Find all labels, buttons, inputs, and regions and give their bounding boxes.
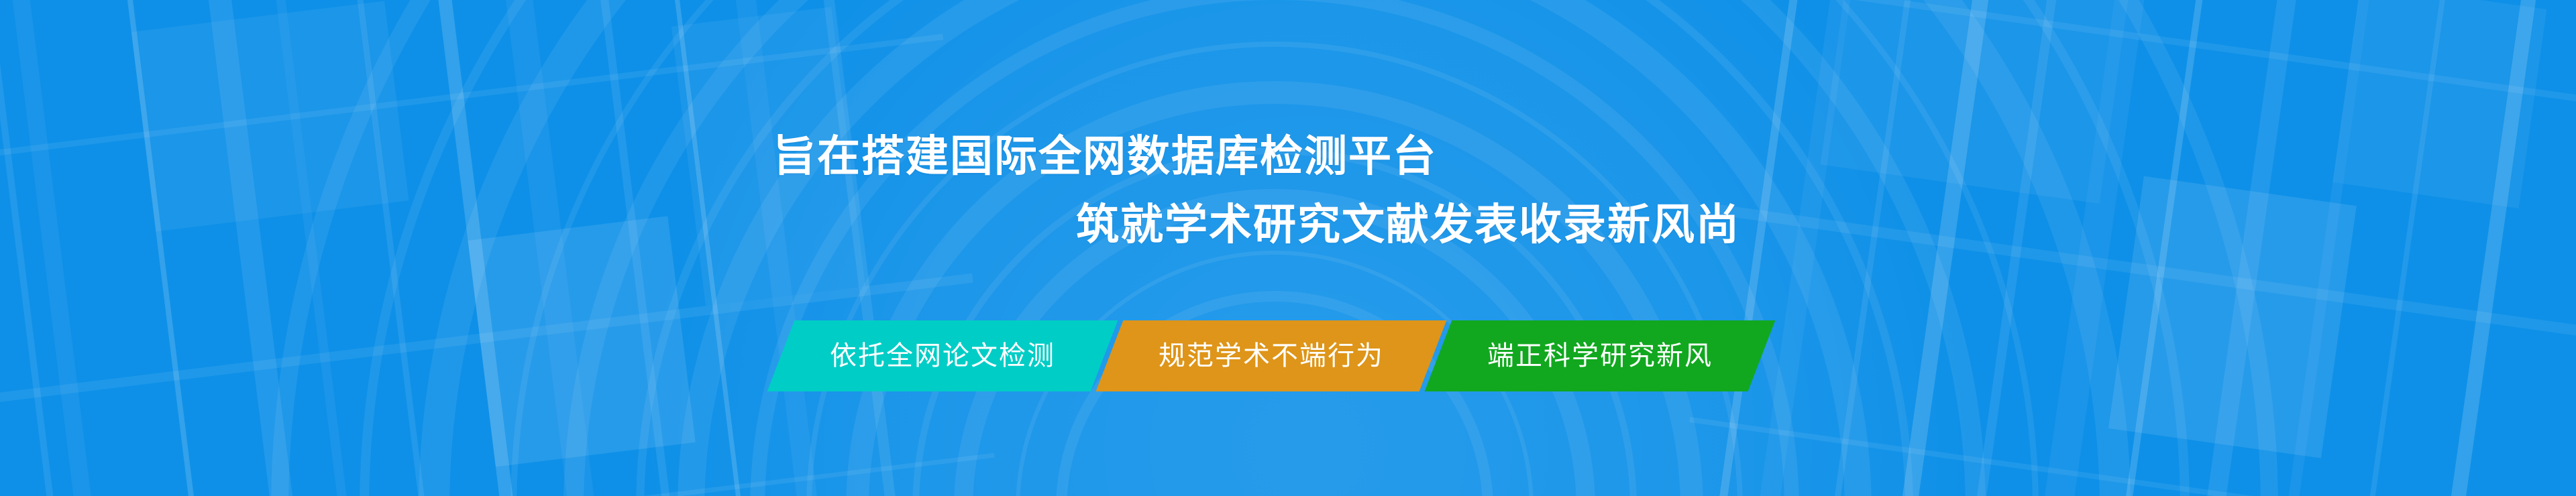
feature-tag-1[interactable]: 依托全网论文检测	[767, 320, 1118, 391]
feature-tag-1-label: 依托全网论文检测	[830, 343, 1055, 369]
feature-tag-3[interactable]: 端正科学研究新风	[1425, 320, 1776, 391]
promo-banner: 旨在搭建国际全网数据库检测平台 筑就学术研究文献发表收录新风尚 依托全网论文检测…	[0, 0, 2576, 496]
feature-tag-3-label: 端正科学研究新风	[1487, 343, 1713, 369]
feature-tag-row: 依托全网论文检测 规范学术不端行为 端正科学研究新风	[781, 320, 1762, 391]
headline-line-1: 旨在搭建国际全网数据库检测平台	[773, 122, 1980, 190]
feature-tag-2-label: 规范学术不端行为	[1159, 343, 1384, 369]
headline-line-2: 筑就学术研究文献发表收录新风尚	[773, 190, 1980, 259]
feature-tag-2[interactable]: 规范学术不端行为	[1096, 320, 1447, 391]
headline-block: 旨在搭建国际全网数据库检测平台 筑就学术研究文献发表收录新风尚	[773, 122, 1980, 259]
